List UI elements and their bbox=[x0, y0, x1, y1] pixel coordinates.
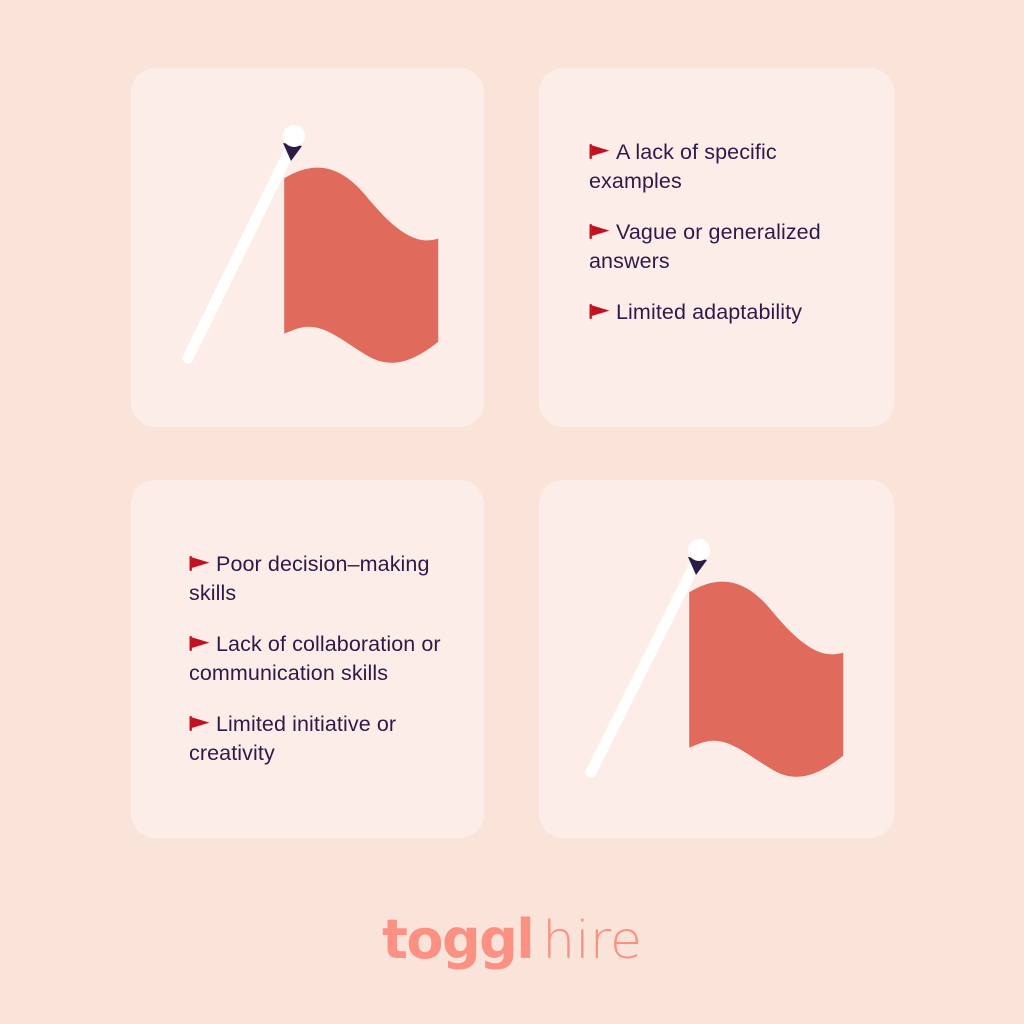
flag-finial-icon bbox=[688, 539, 710, 561]
list-item: Poor decision–making skills bbox=[189, 550, 451, 607]
flag-pole-icon bbox=[591, 562, 696, 772]
list-item-label: A lack of specific examples bbox=[589, 140, 777, 193]
logo-secondary-text: hire bbox=[542, 911, 642, 971]
red-flags-list-top-right: A lack of specific examples Vague or gen… bbox=[589, 138, 859, 327]
red-pennant-icon bbox=[189, 555, 211, 572]
list-item-label: Poor decision–making skills bbox=[189, 552, 430, 605]
red-flags-list-bottom-left: Poor decision–making skills Lack of coll… bbox=[189, 550, 451, 768]
list-item-label: Limited initiative or creativity bbox=[189, 712, 396, 765]
red-pennant-icon bbox=[189, 635, 211, 652]
list-item-label: Vague or generalized answers bbox=[589, 220, 821, 273]
red-flag-illustration bbox=[539, 480, 894, 838]
logo-primary-text: toggl bbox=[382, 908, 533, 971]
card-top-left bbox=[131, 68, 484, 427]
list-item: A lack of specific examples bbox=[589, 138, 859, 195]
list-item-label: Lack of collaboration or communication s… bbox=[189, 632, 441, 685]
card-bottom-right bbox=[539, 480, 894, 838]
list-item: Vague or generalized answers bbox=[589, 218, 859, 275]
red-pennant-icon bbox=[189, 715, 211, 732]
flag-pole-icon bbox=[188, 148, 291, 358]
flag-cloth-icon bbox=[284, 168, 438, 363]
red-pennant-icon bbox=[589, 143, 611, 160]
flag-cloth-icon bbox=[689, 582, 843, 777]
red-flag-illustration bbox=[131, 68, 484, 427]
list-item-label: Limited adaptability bbox=[616, 300, 802, 324]
flag-finial-icon bbox=[283, 125, 305, 147]
red-pennant-icon bbox=[589, 223, 611, 240]
list-item: Limited adaptability bbox=[589, 298, 859, 327]
list-item: Limited initiative or creativity bbox=[189, 710, 451, 767]
list-item: Lack of collaboration or communication s… bbox=[189, 630, 451, 687]
poster-canvas: A lack of specific examples Vague or gen… bbox=[0, 0, 1024, 1024]
red-pennant-icon bbox=[589, 303, 611, 320]
toggl-hire-logo: togglhire bbox=[0, 908, 1024, 971]
